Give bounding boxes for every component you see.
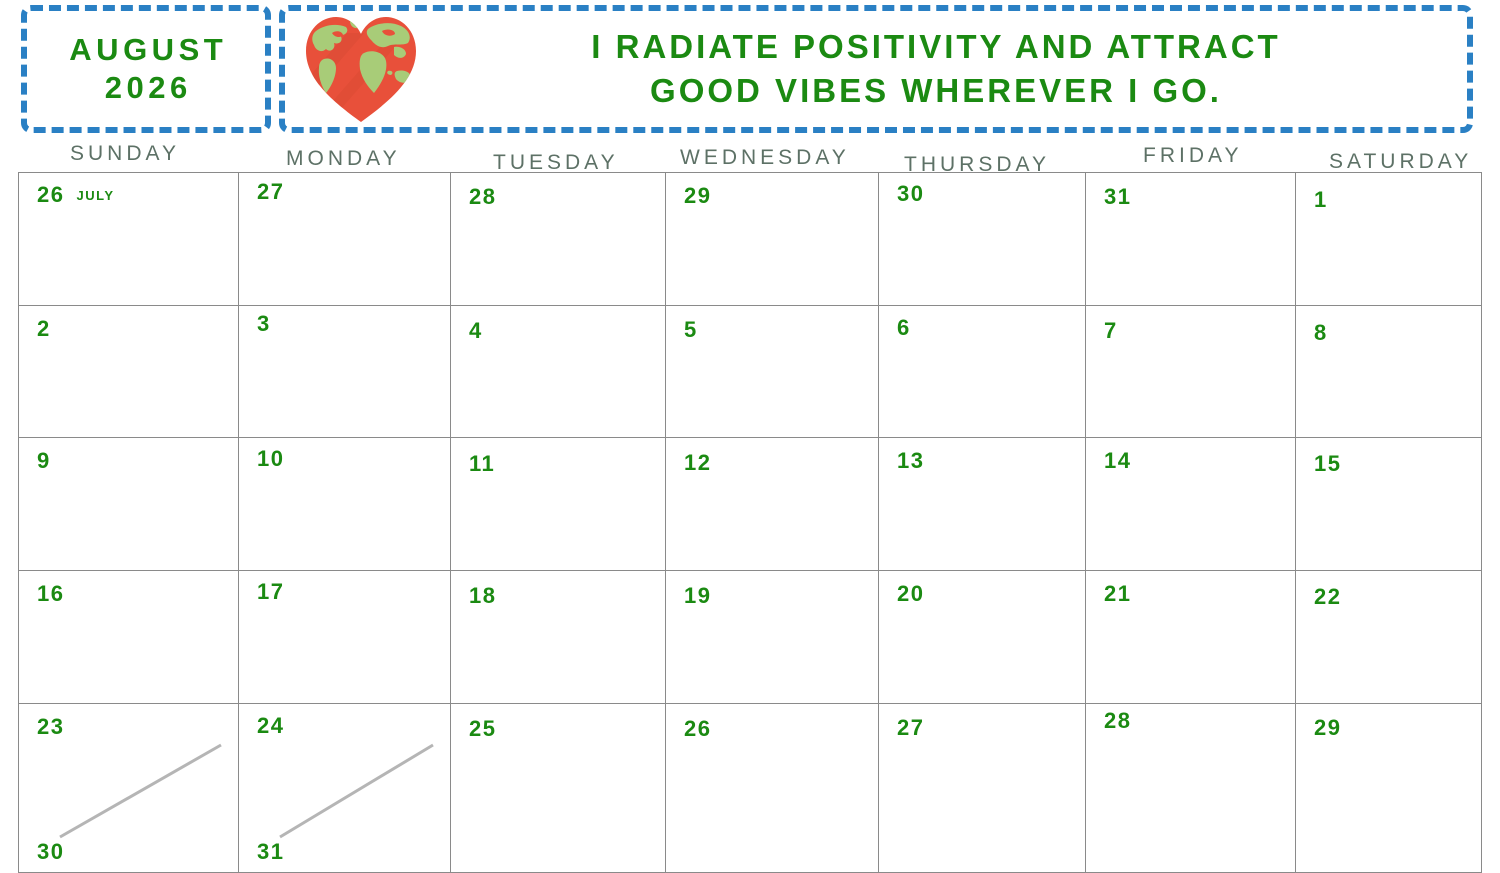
- day-number: 27: [897, 715, 924, 741]
- calendar-day-cell[interactable]: 1: [1295, 172, 1482, 305]
- day-number: 14: [1104, 448, 1131, 474]
- day-number: 13: [897, 448, 924, 474]
- calendar-day-cell[interactable]: 18: [450, 570, 665, 703]
- calendar-day-cell[interactable]: 9: [18, 437, 238, 570]
- affirmation-inner: I RADIATE POSITIVITY AND ATTRACT GOOD VI…: [285, 11, 1467, 127]
- calendar-day-cell[interactable]: 12: [665, 437, 878, 570]
- calendar-day-cell[interactable]: 28: [450, 172, 665, 305]
- month-title-inner: AUGUST 2026: [27, 11, 265, 127]
- day-number: 28: [1104, 708, 1131, 734]
- day-number: 21: [1104, 581, 1131, 607]
- day-number: 22: [1314, 584, 1341, 610]
- calendar-day-cell[interactable]: 31: [1085, 172, 1295, 305]
- day-number: 25: [469, 716, 496, 742]
- calendar-day-cell[interactable]: 19: [665, 570, 878, 703]
- calendar-day-cell[interactable]: 13: [878, 437, 1085, 570]
- day-number: 31: [1104, 184, 1131, 210]
- day-number: 4: [469, 318, 483, 344]
- calendar-day-cell[interactable]: 22: [1295, 570, 1482, 703]
- weekday-label-sunday: SUNDAY: [66, 142, 180, 166]
- calendar-day-cell[interactable]: 10: [238, 437, 450, 570]
- calendar-day-cell[interactable]: 29: [665, 172, 878, 305]
- calendar-day-cell[interactable]: 2: [18, 305, 238, 437]
- calendar-header-banner: AUGUST 2026: [0, 0, 1500, 140]
- affirmation-text-wrap: I RADIATE POSITIVITY AND ATTRACT GOOD VI…: [428, 25, 1467, 113]
- day-number: 11: [469, 451, 495, 477]
- calendar-day-cell[interactable]: 21: [1085, 570, 1295, 703]
- day-number: 3: [257, 311, 271, 337]
- calendar-day-cell[interactable]: 26: [665, 703, 878, 872]
- weekday-label-saturday: SATURDAY: [1325, 150, 1472, 174]
- day-number: 1: [1314, 187, 1328, 213]
- day-number: 9: [37, 448, 51, 474]
- year-label: 2026: [100, 69, 191, 107]
- calendar-day-cell[interactable]: 30: [878, 172, 1085, 305]
- calendar-day-cell[interactable]: 5: [665, 305, 878, 437]
- month-title-box: AUGUST 2026: [21, 5, 271, 133]
- weekday-label-monday: MONDAY: [282, 147, 401, 171]
- day-month-label: JULY: [76, 188, 114, 203]
- day-number: 5: [684, 317, 698, 343]
- day-number: 27: [257, 179, 284, 205]
- calendar-day-cell[interactable]: 14: [1085, 437, 1295, 570]
- month-name-label: AUGUST: [65, 31, 227, 69]
- day-number: 29: [684, 183, 711, 209]
- weekday-label-friday: FRIDAY: [1139, 144, 1242, 168]
- day-number: 2: [37, 316, 51, 342]
- weekday-label-wednesday: WEDNESDAY: [676, 146, 850, 170]
- globe-heart-icon-wrap: [285, 13, 428, 125]
- calendar-day-cell[interactable]: 2330: [18, 703, 238, 872]
- day-number: 17: [257, 579, 284, 605]
- weekday-header-row: SUNDAYMONDAYTUESDAYWEDNESDAYTHURSDAYFRID…: [0, 136, 1500, 172]
- day-number: 8: [1314, 320, 1328, 346]
- globe-heart-icon: [302, 13, 420, 125]
- calendar-day-cell[interactable]: 16: [18, 570, 238, 703]
- day-number: 15: [1314, 451, 1341, 477]
- day-number: 16: [37, 581, 64, 607]
- calendar-day-cell[interactable]: 28: [1085, 703, 1295, 872]
- affirmation-line-1: I RADIATE POSITIVITY AND ATTRACT: [588, 25, 1280, 69]
- day-number: 26: [684, 716, 711, 742]
- calendar-day-cell[interactable]: 27: [878, 703, 1085, 872]
- calendar-day-cell[interactable]: 8: [1295, 305, 1482, 437]
- calendar-day-cell[interactable]: 26JULY: [18, 172, 238, 305]
- day-number: 12: [684, 450, 711, 476]
- day-number: 20: [897, 581, 924, 607]
- calendar-day-cell[interactable]: 4: [450, 305, 665, 437]
- calendar-day-cell[interactable]: 25: [450, 703, 665, 872]
- day-number: 18: [469, 583, 496, 609]
- calendar-day-cell[interactable]: 7: [1085, 305, 1295, 437]
- calendar-day-cell[interactable]: 17: [238, 570, 450, 703]
- day-number: 23: [37, 714, 64, 740]
- affirmation-box: I RADIATE POSITIVITY AND ATTRACT GOOD VI…: [279, 5, 1473, 133]
- calendar-day-cell[interactable]: 29: [1295, 703, 1482, 872]
- calendar-day-cell[interactable]: 6: [878, 305, 1085, 437]
- day-number: 26JULY: [37, 182, 115, 208]
- calendar-day-cell[interactable]: 20: [878, 570, 1085, 703]
- day-number: 7: [1104, 318, 1118, 344]
- calendar-day-cell[interactable]: 3: [238, 305, 450, 437]
- calendar-day-cell[interactable]: 2431: [238, 703, 450, 872]
- calendar-grid: 26JULY2728293031123456789101112131415161…: [18, 172, 1482, 872]
- affirmation-line-2: GOOD VIBES WHEREVER I GO.: [647, 69, 1222, 113]
- day-number: 28: [469, 184, 496, 210]
- day-number: 29: [1314, 715, 1341, 741]
- calendar-day-cell[interactable]: 15: [1295, 437, 1482, 570]
- day-number: 6: [897, 315, 911, 341]
- calendar-day-cell[interactable]: 11: [450, 437, 665, 570]
- day-number: 19: [684, 583, 711, 609]
- day-number: 24: [257, 713, 284, 739]
- day-number: 30: [897, 181, 924, 207]
- calendar-day-cell[interactable]: 27: [238, 172, 450, 305]
- day-number: 10: [257, 446, 284, 472]
